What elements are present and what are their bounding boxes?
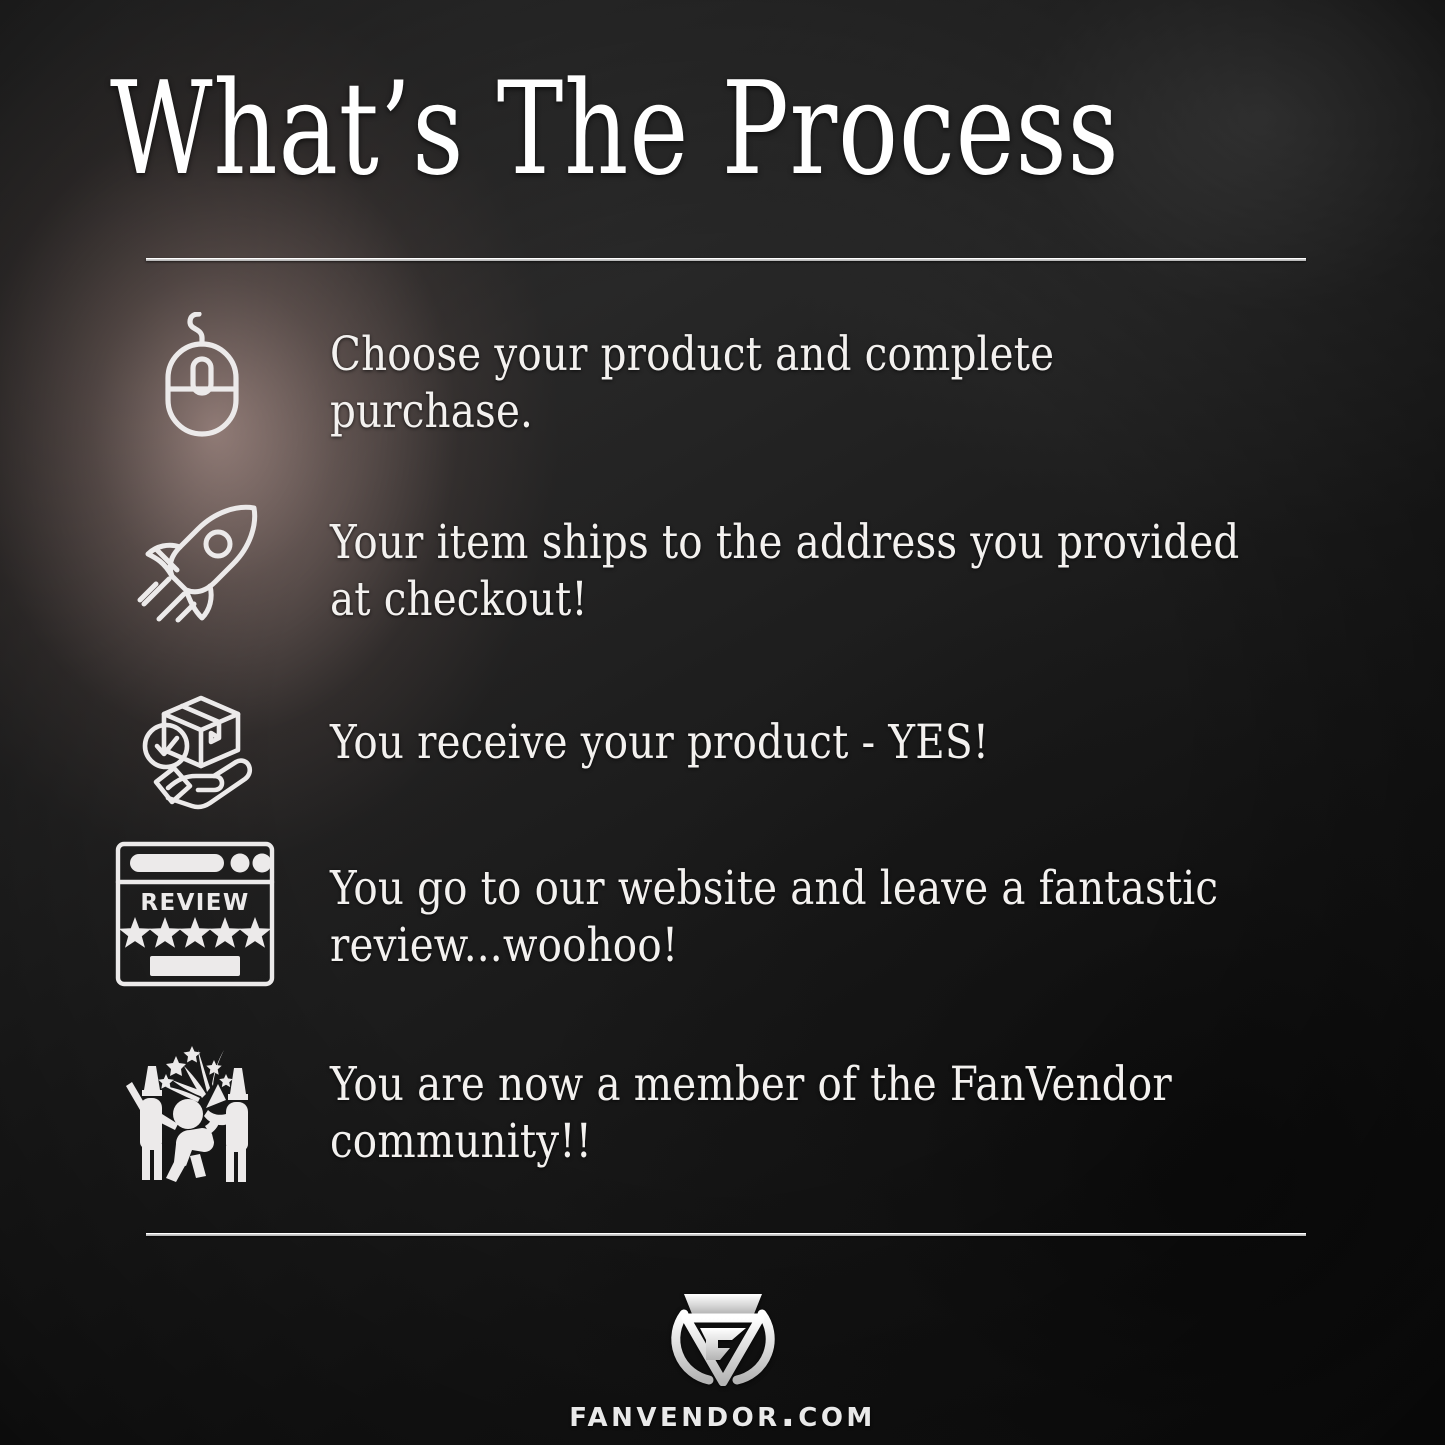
- review-star: [239, 917, 271, 948]
- review-star: [149, 917, 181, 948]
- process-step-5-text: You are now a member of the FanVendor co…: [330, 1056, 1267, 1171]
- review-star: [209, 917, 241, 948]
- review-label: REVIEW: [140, 890, 249, 916]
- process-step-3-text: You receive your product - YES!: [330, 714, 1267, 771]
- review-star: [179, 917, 211, 948]
- fanvendor-shield-icon: [662, 1288, 784, 1386]
- poster-canvas: What’s The Process Choose your product a…: [0, 0, 1445, 1445]
- rocket-icon: [136, 500, 262, 624]
- celebration-people-confetti-icon: [114, 1038, 280, 1188]
- computer-mouse-icon: [150, 312, 254, 438]
- process-step-2: Your item ships to the address you provi…: [0, 490, 1445, 640]
- process-step-3: You receive your product - YES!: [0, 672, 1445, 822]
- process-step-1: Choose your product and complete purchas…: [0, 300, 1445, 450]
- footer-brand: FanVendor.com: [0, 1288, 1445, 1435]
- review-star: [119, 917, 151, 948]
- process-step-2-text: Your item ships to the address you provi…: [330, 514, 1267, 629]
- page-title: What’s The Process: [110, 62, 1093, 198]
- divider-bottom: [146, 1233, 1306, 1236]
- brand-wordmark: FanVendor.com: [0, 1392, 1445, 1435]
- hand-holding-package-check-icon: [138, 684, 264, 810]
- review-stars: [119, 917, 271, 948]
- browser-review-stars-icon: REVIEW: [112, 838, 278, 990]
- process-step-1-text: Choose your product and complete purchas…: [330, 326, 1267, 441]
- divider-top: [146, 258, 1306, 261]
- process-step-5: You are now a member of the FanVendor co…: [0, 1028, 1445, 1203]
- process-step-4: REVIEW You go to our website and leave a…: [0, 830, 1445, 1005]
- process-step-4-text: You go to our website and leave a fantas…: [330, 860, 1267, 975]
